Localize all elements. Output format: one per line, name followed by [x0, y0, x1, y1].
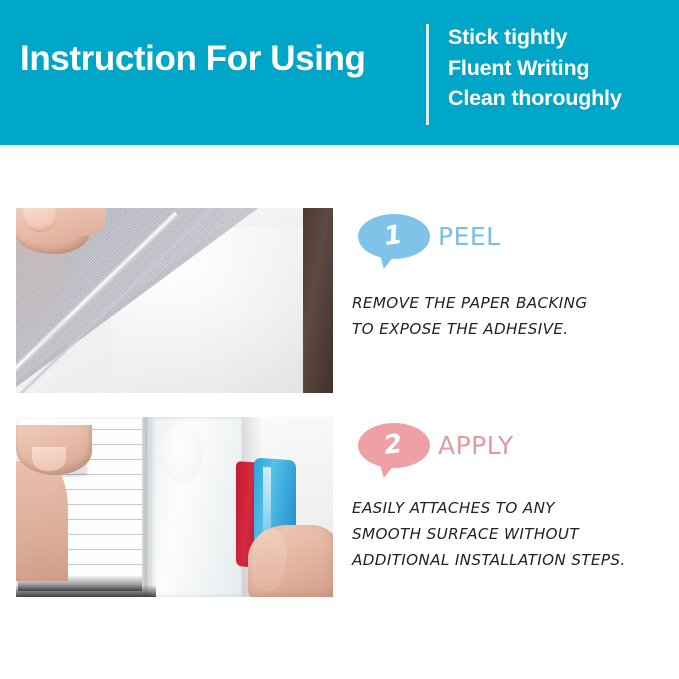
description-line: REMOVE THE PAPER BACKING: [352, 290, 587, 316]
step-1-photo: [16, 208, 333, 393]
left-hand: [16, 461, 68, 581]
speech-bubble-tail-icon: [377, 461, 397, 478]
tagline-item: Stick tightly: [448, 22, 678, 53]
page-header: Instruction For Using Stick tightly Flue…: [0, 0, 679, 145]
hand-shadow: [16, 236, 63, 366]
description-line: TO EXPOSE THE ADHESIVE.: [352, 316, 587, 342]
tagline-item: Fluent Writing: [448, 53, 678, 84]
left-thumbnail: [32, 447, 66, 471]
header-underline: [0, 145, 679, 147]
step-2-photo: [16, 417, 333, 597]
step-keyword: APPLY: [438, 431, 514, 460]
step-2-description: EASILY ATTACHES TO ANY SMOOTH SURFACE WI…: [352, 495, 626, 573]
speech-bubble-tail-icon: [377, 252, 397, 269]
film-gloss-highlight: [161, 425, 203, 483]
description-line: SMOOTH SURFACE WITHOUT: [352, 521, 626, 547]
description-line: ADDITIONAL INSTALLATION STEPS.: [352, 547, 626, 573]
header-divider: [426, 24, 429, 125]
tagline-item: Clean thoroughly: [448, 83, 678, 114]
page-title: Instruction For Using: [20, 41, 365, 78]
notebook-base-shadow: [16, 585, 156, 597]
step-1-description: REMOVE THE PAPER BACKING TO EXPOSE THE A…: [352, 290, 587, 342]
step-keyword: PEEL: [438, 222, 501, 251]
tagline-list: Stick tightly Fluent Writing Clean thoro…: [448, 22, 678, 114]
step-number: 1: [382, 221, 404, 249]
wood-table-edge: [303, 208, 333, 393]
description-line: EASILY ATTACHES TO ANY: [352, 495, 626, 521]
step-number: 2: [382, 430, 404, 458]
